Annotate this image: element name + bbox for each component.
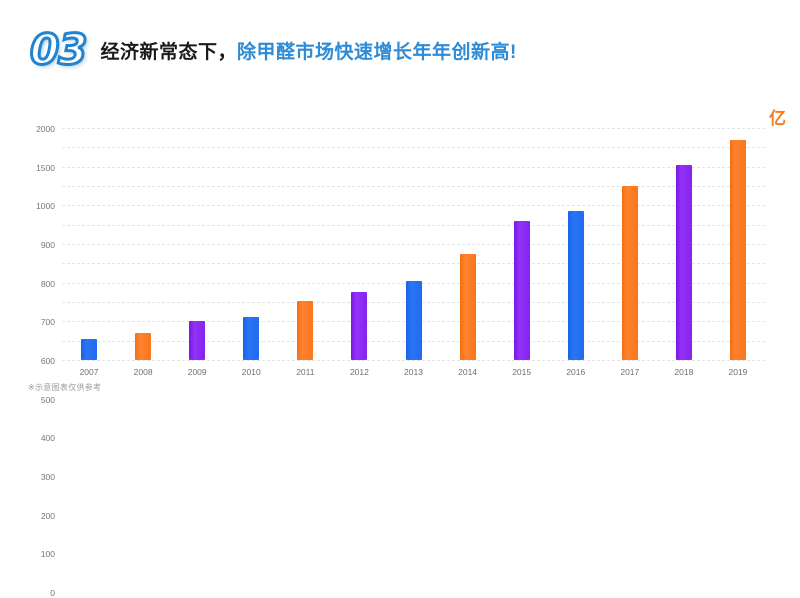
bars-group: 2007200820092010201120122013201420152016… (62, 128, 765, 360)
y-axis-tick-label: 800 (41, 279, 55, 289)
page-title-part-dark: 经济新常态下， (100, 42, 237, 63)
bar-2016[interactable] (568, 211, 584, 360)
bar-2013[interactable] (406, 281, 422, 360)
bar-slot[interactable]: 2007 (62, 128, 116, 360)
bar-2012[interactable] (351, 292, 367, 360)
bar-slot[interactable]: 2013 (386, 128, 440, 360)
y-axis-tick-label: 300 (41, 472, 55, 482)
x-axis-tick-label: 2015 (512, 367, 531, 377)
y-axis-unit-label: 亿 (769, 104, 786, 129)
x-axis-tick-label: 2016 (566, 367, 585, 377)
x-axis-tick-label: 2008 (134, 367, 153, 377)
y-axis-tick-label: 600 (41, 356, 55, 366)
bar-2008[interactable] (135, 333, 151, 360)
y-axis-tick-label: 400 (41, 433, 55, 443)
y-axis-tick-label: 700 (41, 317, 55, 327)
x-axis-tick-label: 2009 (188, 367, 207, 377)
section-number-badge: 03 (30, 29, 86, 71)
bar-2011[interactable] (297, 301, 313, 360)
page-header: 03 经济新常态下，除甲醛市场快速增长年年创新高! (0, 0, 800, 100)
chart-plot-area: 0100200300400500600700800900100015002000… (62, 128, 765, 360)
bar-slot[interactable]: 2018 (657, 128, 711, 360)
x-axis-tick-label: 2018 (674, 367, 693, 377)
x-axis-tick-label: 2013 (404, 367, 423, 377)
chart-footnote: ※示意图表仅供参考 (28, 382, 101, 393)
bar-2018[interactable] (676, 165, 692, 360)
y-axis-tick-label: 200 (41, 511, 55, 521)
bar-slot[interactable]: 2019 (711, 128, 765, 360)
y-axis-tick-label: 900 (41, 240, 55, 250)
y-axis-tick-label: 100 (41, 549, 55, 559)
bar-2014[interactable] (460, 254, 476, 360)
x-axis-tick-label: 2012 (350, 367, 369, 377)
y-axis-tick-label: 0 (50, 588, 55, 598)
bar-2007[interactable] (81, 339, 97, 360)
y-axis-tick-label: 2000 (36, 124, 55, 134)
x-axis-tick-label: 2019 (729, 367, 748, 377)
bar-slot[interactable]: 2010 (224, 128, 278, 360)
bar-slot[interactable]: 2017 (603, 128, 657, 360)
y-axis-tick-label: 500 (41, 395, 55, 405)
x-axis-tick-label: 2010 (242, 367, 261, 377)
bar-slot[interactable]: 2012 (332, 128, 386, 360)
x-axis-tick-label: 2017 (620, 367, 639, 377)
bar-slot[interactable]: 2015 (495, 128, 549, 360)
bar-slot[interactable]: 2009 (170, 128, 224, 360)
x-axis-tick-label: 2011 (296, 367, 314, 377)
x-axis-tick-label: 2007 (80, 367, 99, 377)
bar-chart: 亿 01002003004005006007008009001000150020… (0, 100, 800, 419)
bar-2009[interactable] (189, 321, 205, 360)
bar-slot[interactable]: 2014 (441, 128, 495, 360)
y-axis-tick-label: 1500 (36, 163, 55, 173)
page-title-part-blue: 除甲醛市场快速增长年年创新高! (237, 42, 517, 63)
page-title: 经济新常态下，除甲醛市场快速增长年年创新高! (100, 37, 516, 64)
bar-2019[interactable] (730, 140, 746, 360)
bar-slot[interactable]: 2008 (116, 128, 170, 360)
y-axis-tick-label: 1000 (36, 201, 55, 211)
bar-2015[interactable] (514, 221, 530, 360)
x-axis-tick-label: 2014 (458, 367, 477, 377)
bar-slot[interactable]: 2011 (278, 128, 332, 360)
bar-slot[interactable]: 2016 (549, 128, 603, 360)
gridline: 0 (62, 360, 765, 361)
bar-2017[interactable] (622, 186, 638, 360)
bar-2010[interactable] (243, 317, 259, 361)
